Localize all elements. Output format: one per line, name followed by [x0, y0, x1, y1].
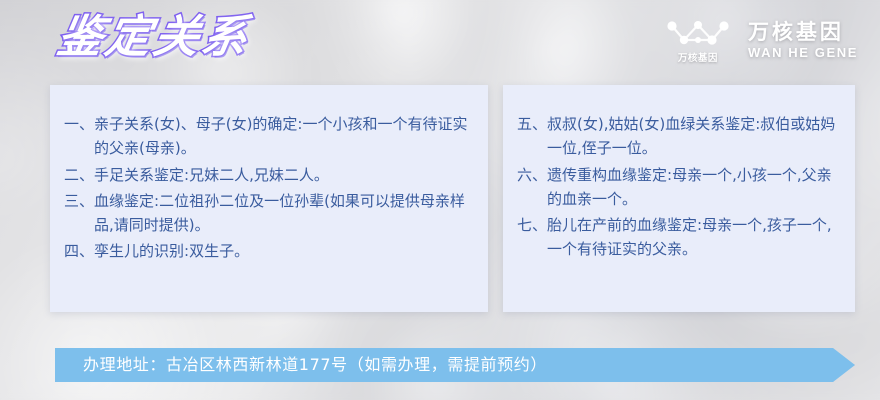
list-item-text: 胎儿在产前的血缘鉴定:母亲一个,孩子一个,一个有待证实的父亲。 [547, 213, 841, 262]
list-item-text: 手足关系鉴定:兄妹二人,兄妹二人。 [94, 163, 474, 187]
poster-canvas: 鉴定关系 [0, 0, 880, 400]
list-item: 六、 遗传重构血缘鉴定:母亲一个,小孩一个,父亲的血亲一个。 [517, 163, 841, 212]
brand-mark-label: 万核基因 [678, 50, 718, 64]
brand-wordmark: 万核基因 WAN HE GENE [748, 21, 858, 60]
list-item-text: 亲子关系(女)、母子(女)的确定:一个小孩和一个有待证实的父亲(母亲)。 [94, 112, 474, 161]
info-panel-right: 五、 叔叔(女),姑姑(女)血绿关系鉴定:叔伯或姑妈一位,侄子一位。 六、 遗传… [503, 85, 855, 312]
list-item-text: 孪生儿的识别:双生子。 [94, 239, 474, 263]
address-ribbon: 办理地址：古冶区林西新林道177号（如需办理，需提前预约） [55, 348, 855, 382]
brand-logo: 万核基因 万核基因 WAN HE GENE [662, 18, 858, 64]
brand-name-en: WAN HE GENE [748, 46, 858, 60]
list-item-number: 一、 [64, 112, 94, 136]
service-list-right: 五、 叔叔(女),姑姑(女)血绿关系鉴定:叔伯或姑妈一位,侄子一位。 六、 遗传… [517, 112, 841, 262]
brand-name-cn: 万核基因 [748, 21, 858, 45]
list-item: 三、 血缘鉴定:二位祖孙二位及一位孙辈(如果可以提供母亲样品,请同时提供)。 [64, 189, 474, 238]
list-item-number: 七、 [517, 213, 547, 237]
list-item-number: 四、 [64, 239, 94, 263]
list-item-number: 五、 [517, 112, 547, 136]
list-item-text: 血缘鉴定:二位祖孙二位及一位孙辈(如果可以提供母亲样品,请同时提供)。 [94, 189, 474, 238]
list-item: 一、 亲子关系(女)、母子(女)的确定:一个小孩和一个有待证实的父亲(母亲)。 [64, 112, 474, 161]
list-item-number: 二、 [64, 163, 94, 187]
list-item: 七、 胎儿在产前的血缘鉴定:母亲一个,孩子一个,一个有待证实的父亲。 [517, 213, 841, 262]
brand-mark: 万核基因 [662, 18, 734, 64]
molecule-node-icon [662, 18, 734, 48]
list-item-text: 遗传重构血缘鉴定:母亲一个,小孩一个,父亲的血亲一个。 [547, 163, 841, 212]
list-item-text: 叔叔(女),姑姑(女)血绿关系鉴定:叔伯或姑妈一位,侄子一位。 [547, 112, 841, 161]
info-panel-left: 一、 亲子关系(女)、母子(女)的确定:一个小孩和一个有待证实的父亲(母亲)。 … [50, 85, 488, 312]
list-item: 二、 手足关系鉴定:兄妹二人,兄妹二人。 [64, 163, 474, 187]
list-item-number: 六、 [517, 163, 547, 187]
list-item-number: 三、 [64, 189, 94, 213]
list-item: 五、 叔叔(女),姑姑(女)血绿关系鉴定:叔伯或姑妈一位,侄子一位。 [517, 112, 841, 161]
service-list-left: 一、 亲子关系(女)、母子(女)的确定:一个小孩和一个有待证实的父亲(母亲)。 … [64, 112, 474, 264]
list-item: 四、 孪生儿的识别:双生子。 [64, 239, 474, 263]
page-title: 鉴定关系 [54, 14, 254, 59]
